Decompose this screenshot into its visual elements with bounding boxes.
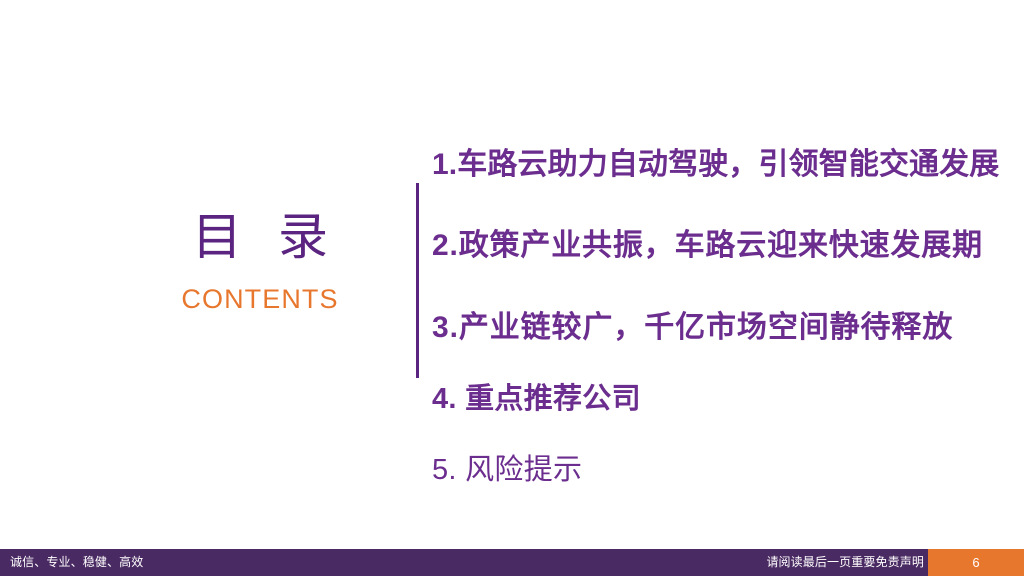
contents-item-2[interactable]: 2.政策产业共振，车路云迎来快速发展期: [432, 220, 983, 264]
slide-footer: 诚信、专业、稳健、高效 请阅读最后一页重要免责声明 6: [0, 549, 1024, 576]
footer-slogan: 诚信、专业、稳健、高效: [10, 549, 143, 576]
contents-title-block: 目 录 CONTENTS: [120, 212, 400, 313]
page-title-english: CONTENTS: [120, 286, 400, 313]
slide-contents-page: 目 录 CONTENTS 1.车路云助力自动驾驶，引领智能交通发展 2.政策产业…: [0, 0, 1024, 576]
vertical-divider: [416, 183, 419, 378]
page-title: 目 录: [120, 212, 400, 262]
contents-item-3[interactable]: 3.产业链较广，千亿市场空间静待释放: [432, 302, 953, 346]
page-number-badge: 6: [928, 549, 1024, 576]
contents-item-4[interactable]: 4. 重点推荐公司: [432, 375, 641, 417]
contents-item-5[interactable]: 5. 风险提示: [432, 446, 582, 488]
contents-item-1[interactable]: 1.车路云助力自动驾驶，引领智能交通发展: [432, 139, 999, 183]
footer-disclaimer: 请阅读最后一页重要免责声明: [766, 549, 924, 576]
footer-bar: 诚信、专业、稳健、高效 请阅读最后一页重要免责声明: [0, 549, 928, 576]
